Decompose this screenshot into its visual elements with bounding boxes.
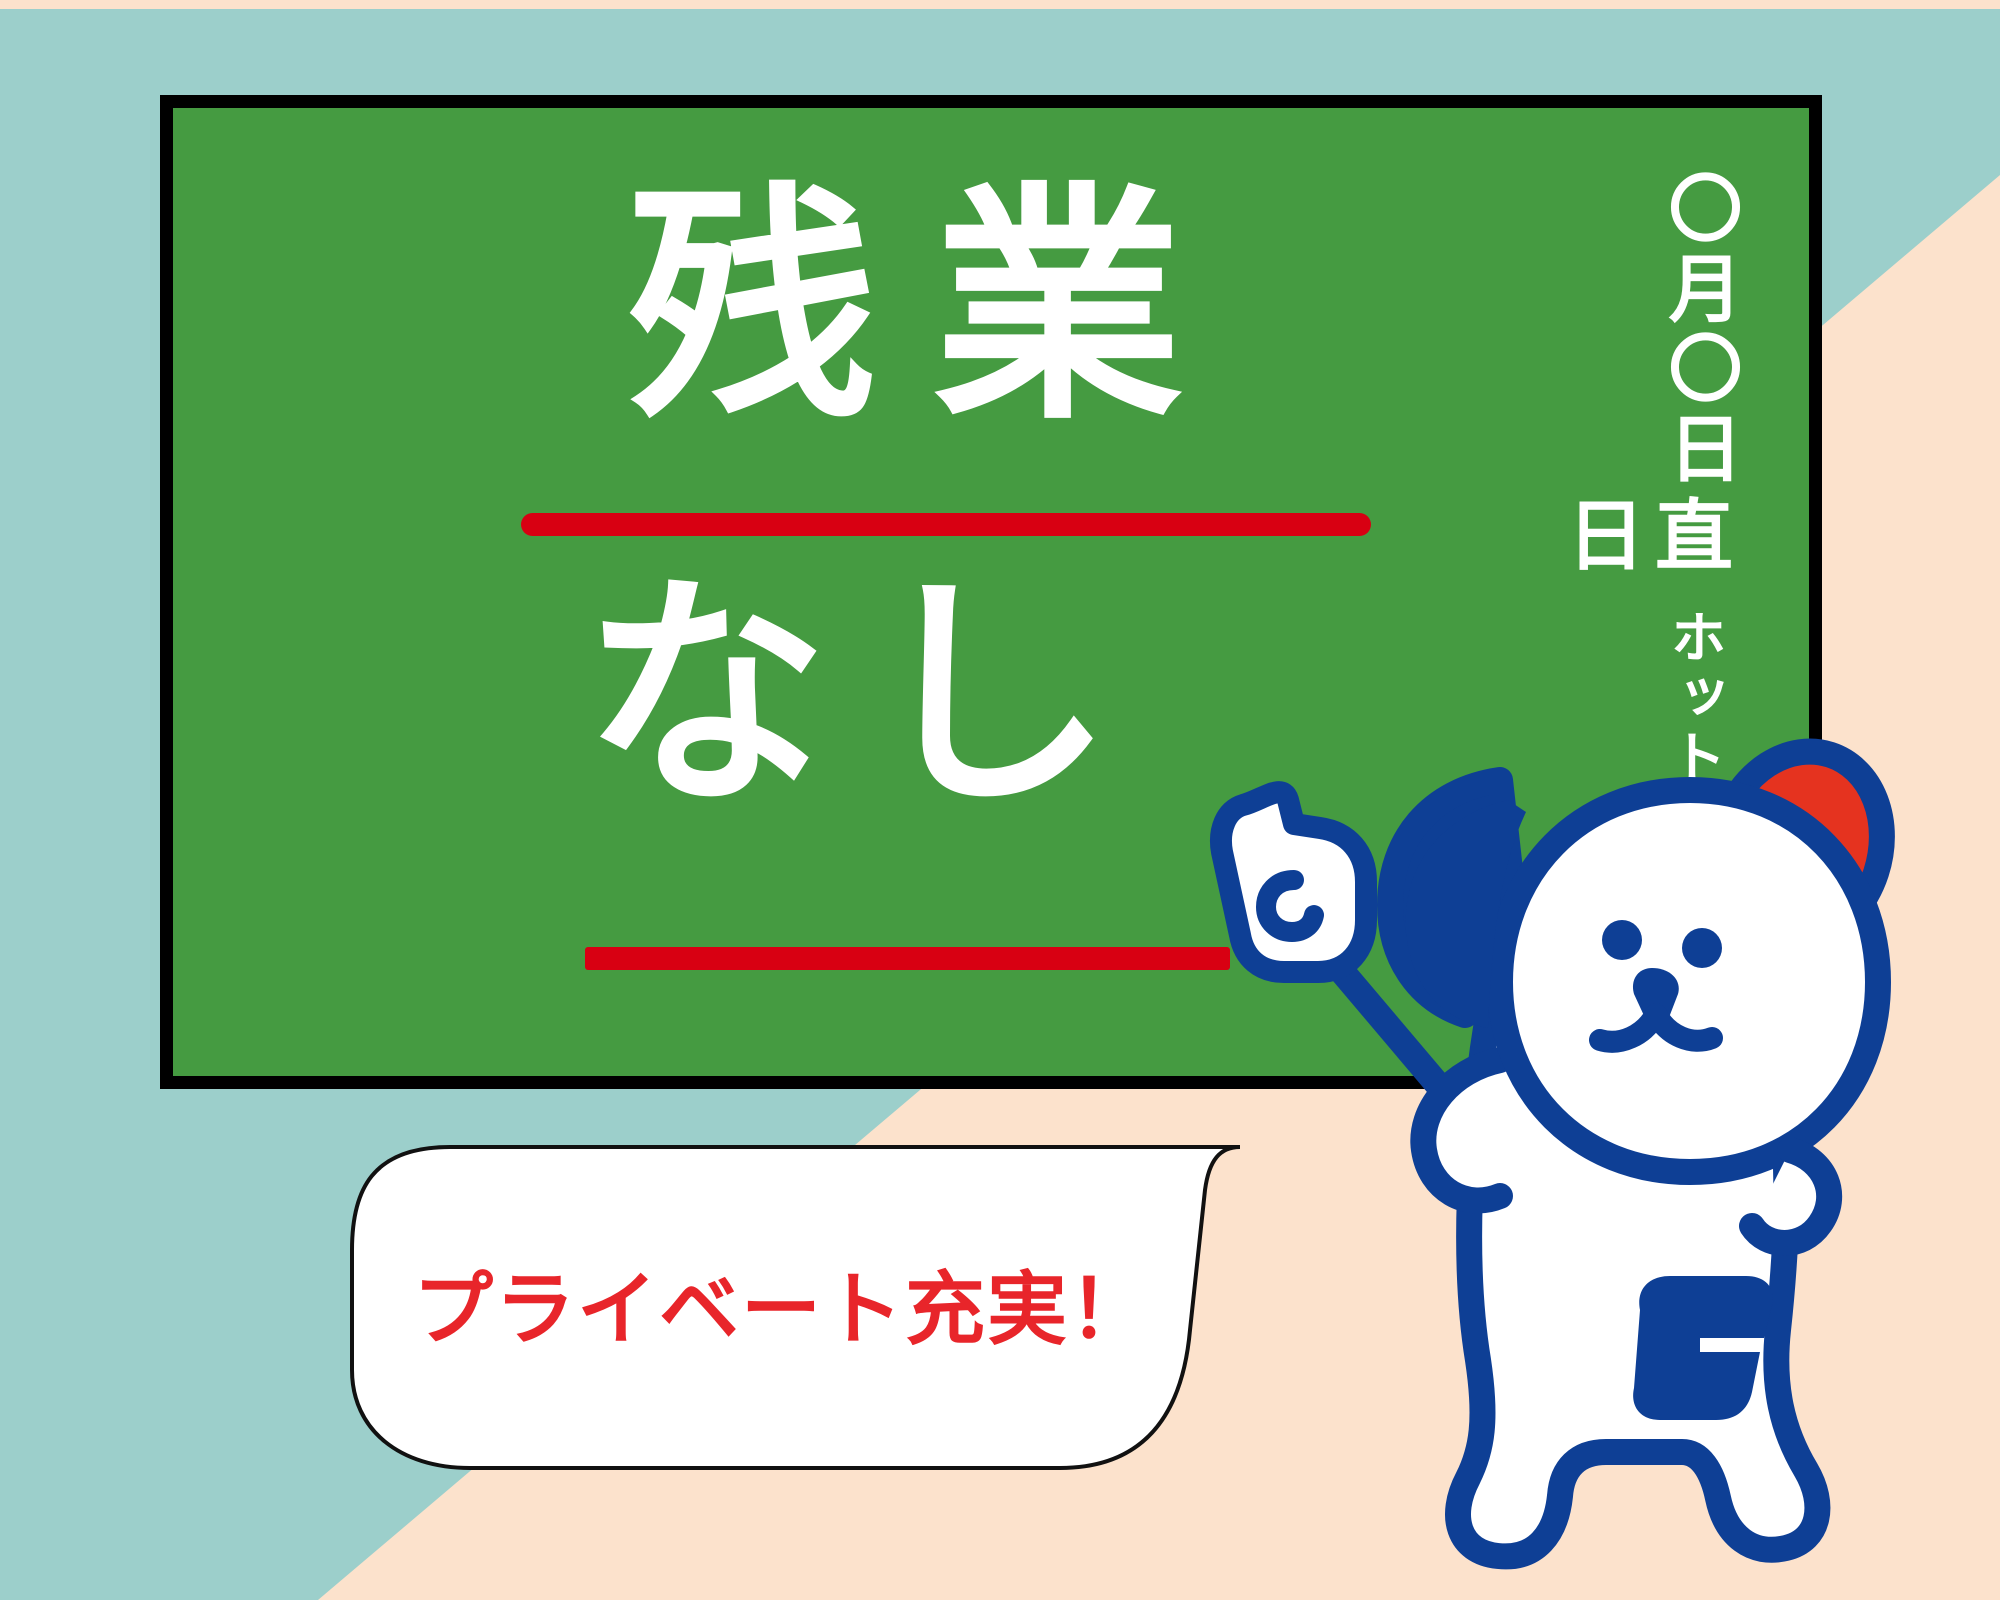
speech-bubble-text: プライベート充実！ — [352, 1148, 1202, 1458]
speech-bubble-text-wrap: プライベート充実！ — [352, 1148, 1202, 1458]
poster-canvas: 残業 なし 〇月〇日 日直 ホット犬 プライベート充実！ — [0, 0, 2000, 1600]
